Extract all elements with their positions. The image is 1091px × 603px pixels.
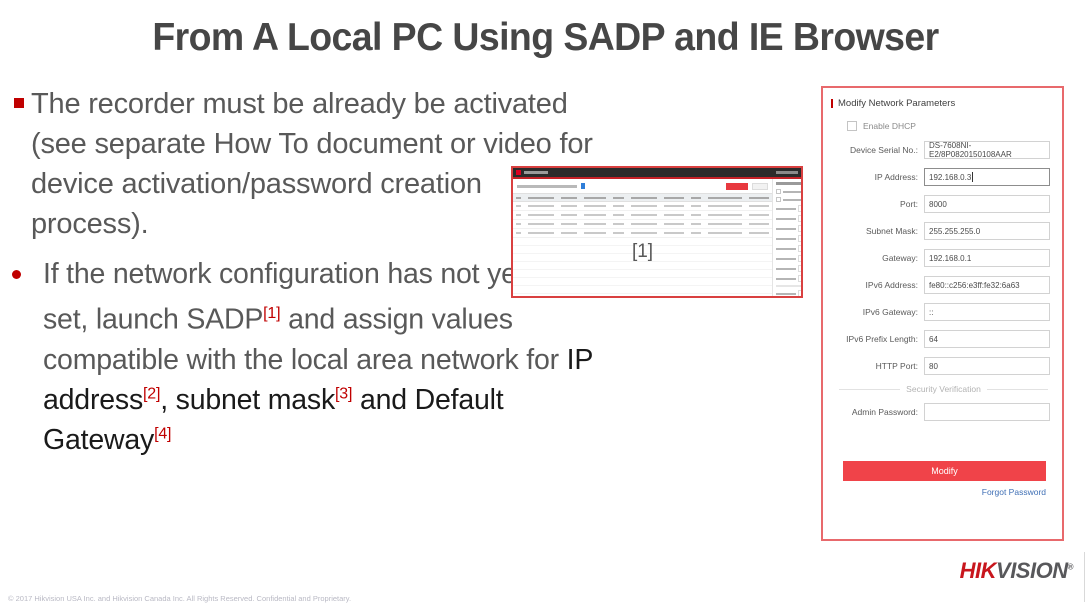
reference-marker-2: [2]: [143, 385, 160, 402]
title-accent-icon: [831, 99, 833, 108]
sadp-screenshot-thumbnail[interactable]: [1]: [511, 166, 803, 298]
enable-dhcp-checkbox-row[interactable]: Enable DHCP: [847, 121, 1050, 131]
field-label: Port:: [831, 199, 924, 209]
sadp-table-header: [513, 193, 772, 202]
field-device-serial-no: Device Serial No.: DS-7608NI-E2/8P082015…: [831, 141, 1050, 159]
http-port-input[interactable]: 80: [924, 357, 1050, 375]
field-label: IPv6 Prefix Length:: [831, 334, 924, 344]
field-value: 192.168.0.3: [929, 173, 971, 182]
sadp-field-row: [776, 275, 803, 282]
port-input[interactable]: 8000: [924, 195, 1050, 213]
text-cursor: [972, 172, 973, 182]
field-label: IPv6 Gateway:: [831, 307, 924, 317]
field-value: fe80::c256:e3ff:fe32:6a63: [929, 281, 1020, 290]
field-ip-address: IP Address: 192.168.0.3 [2]: [831, 168, 1050, 186]
field-value: DS-7608NI-E2/8P0820150108AAR: [929, 141, 1049, 159]
security-verification-divider: Security Verification: [839, 384, 1048, 394]
bullet-item-1: The recorder must be already be activate…: [0, 84, 600, 244]
sadp-window-body: [1]: [513, 179, 801, 298]
dot-bullet-icon: [12, 270, 21, 279]
field-subnet-mask: Subnet Mask: 255.255.255.0 [3]: [831, 222, 1050, 240]
sadp-table-row[interactable]: [513, 220, 772, 229]
reference-marker-4: [4]: [154, 425, 171, 442]
sadp-field-row: [776, 235, 803, 242]
field-label: Admin Password:: [831, 407, 924, 417]
thumbnail-reference-label: [1]: [513, 241, 772, 263]
field-value: 80: [929, 362, 938, 371]
sadp-divider: [776, 285, 803, 287]
ipv6-address-input[interactable]: fe80::c256:e3ff:fe32:6a63: [924, 276, 1050, 294]
sadp-toolbar: [513, 179, 772, 193]
sadp-refresh-button[interactable]: [726, 183, 748, 190]
sadp-field-row: [776, 255, 803, 262]
sadp-table-row[interactable]: [513, 229, 772, 238]
sadp-field-row: [776, 265, 803, 272]
sadp-field-row: [776, 205, 803, 212]
sadp-device-list: [1]: [513, 179, 772, 298]
modify-button[interactable]: Modify: [843, 461, 1046, 481]
sadp-dhcp-row[interactable]: [776, 189, 803, 194]
reference-marker-1: [1]: [263, 305, 280, 322]
field-label: IPv6 Address:: [831, 280, 924, 290]
subnet-mask-input[interactable]: 255.255.255.0 [3]: [924, 222, 1050, 240]
modify-network-parameters-panel: Modify Network Parameters Enable DHCP De…: [821, 86, 1064, 541]
field-label: Gateway:: [831, 253, 924, 263]
field-http-port: HTTP Port: 80: [831, 357, 1050, 375]
field-ipv6-gateway: IPv6 Gateway: ::: [831, 303, 1050, 321]
sadp-export-icon: [581, 183, 585, 189]
logo-trademark-symbol: ®: [1068, 563, 1073, 572]
field-label: Device Serial No.:: [831, 145, 924, 155]
field-value: 8000: [929, 200, 947, 209]
reference-marker-3: [3]: [335, 385, 352, 402]
field-port: Port: 8000: [831, 195, 1050, 213]
sadp-dhcp-row-2[interactable]: [776, 197, 803, 202]
emphasis-and: and: [352, 384, 407, 416]
forgot-password-link[interactable]: Forgot Password: [831, 487, 1046, 497]
field-value: ::: [929, 308, 933, 317]
hikvision-logo: HIKVISION®: [960, 558, 1073, 584]
sadp-table-row[interactable]: [513, 202, 772, 211]
sadp-field-row: [776, 290, 803, 297]
square-bullet-icon: [14, 98, 24, 108]
sadp-title-bar: [513, 168, 801, 177]
ipv6-gateway-input[interactable]: ::: [924, 303, 1050, 321]
divider-line-right: [987, 389, 1048, 390]
field-ipv6-prefix-length: IPv6 Prefix Length: 64: [831, 330, 1050, 348]
field-admin-password: Admin Password:: [831, 403, 1050, 421]
panel-title-label: Modify Network Parameters: [838, 98, 955, 109]
device-serial-no-input[interactable]: DS-7608NI-E2/8P0820150108AAR: [924, 141, 1050, 159]
security-verification-label: Security Verification: [906, 384, 981, 394]
ip-address-input[interactable]: 192.168.0.3 [2]: [924, 168, 1050, 186]
sadp-modify-panel: [772, 179, 803, 298]
emphasis-separator: ,: [160, 384, 175, 416]
sadp-panel-title: [776, 182, 803, 185]
field-label: IP Address:: [831, 172, 924, 182]
bullet-item-2: If the network configuration has not yet…: [0, 254, 600, 460]
sadp-filter-button[interactable]: [752, 183, 768, 190]
field-ipv6-address: IPv6 Address: fe80::c256:e3ff:fe32:6a63: [831, 276, 1050, 294]
field-value: 255.255.255.0: [929, 227, 980, 236]
field-gateway: Gateway: 192.168.0.1 [4]: [831, 249, 1050, 267]
ipv6-prefix-length-input[interactable]: 64: [924, 330, 1050, 348]
sadp-field-row: [776, 245, 803, 252]
footer-right-rule: [1084, 552, 1091, 602]
field-label: Subnet Mask:: [831, 226, 924, 236]
enable-dhcp-label: Enable DHCP: [863, 121, 916, 131]
field-value: 192.168.0.1: [929, 254, 971, 263]
field-label: HTTP Port:: [831, 361, 924, 371]
field-value: 64: [929, 335, 938, 344]
sadp-online-device-count: [517, 185, 577, 188]
checkbox-icon[interactable]: [847, 121, 857, 131]
gateway-input[interactable]: 192.168.0.1 [4]: [924, 249, 1050, 267]
divider-line-left: [839, 389, 900, 390]
admin-password-input[interactable]: [924, 403, 1050, 421]
page-title: From A Local PC Using SADP and IE Browse…: [22, 16, 1069, 60]
sadp-field-row: [776, 225, 803, 232]
emphasis-subnet-mask: subnet mask: [176, 384, 335, 416]
sadp-app-logo-icon: [516, 170, 521, 175]
logo-vision-text: VISION: [996, 558, 1068, 583]
logo-hik-text: HIK: [960, 558, 996, 583]
sadp-field-row: [776, 215, 803, 222]
sadp-app-name: [524, 171, 548, 174]
window-controls-icon: [776, 171, 798, 174]
sadp-table-row[interactable]: [513, 211, 772, 220]
panel-title: Modify Network Parameters: [831, 98, 1050, 109]
slide-body: The recorder must be already be activate…: [0, 84, 600, 460]
